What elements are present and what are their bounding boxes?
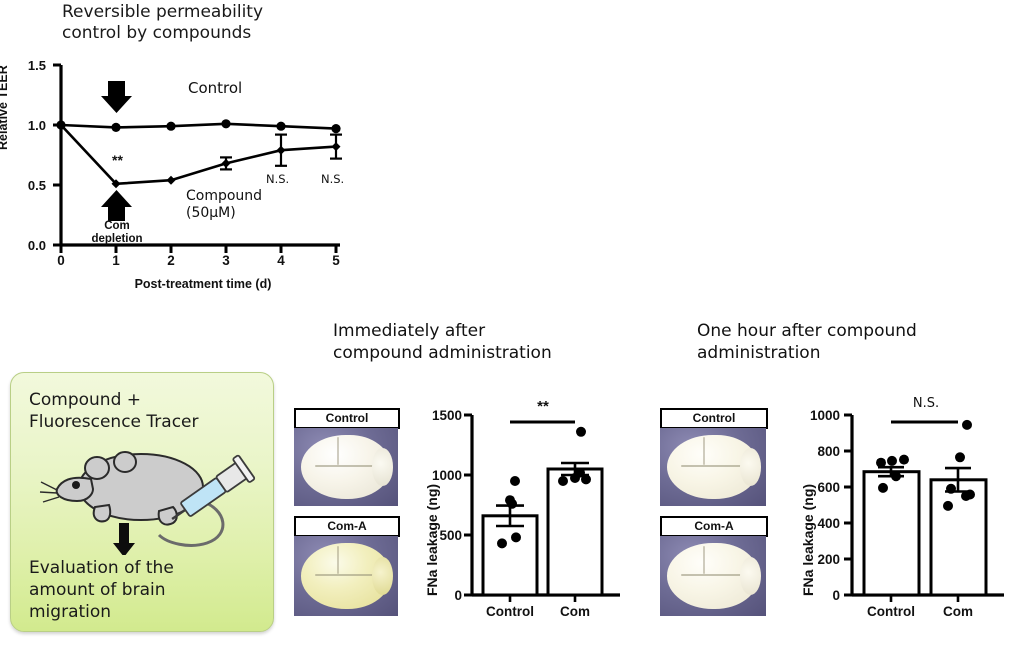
series-label-compound-line1: Compound xyxy=(186,188,262,205)
flow-input-line2: Fluorescence Tracer xyxy=(29,411,259,433)
group2-heading-line1: One hour after compound xyxy=(697,320,1017,342)
group1-brain-photo-com-a xyxy=(294,536,398,616)
flow-output-line3: migration xyxy=(29,601,261,623)
flow-output-text: Evaluation of the amount of brain migrat… xyxy=(29,557,261,623)
group1-heading: Immediately after compound administratio… xyxy=(333,320,633,364)
group2-photo-label-control: Control xyxy=(660,408,768,429)
down-arrow-icon xyxy=(101,81,132,113)
flow-input-text: Compound + Fluorescence Tracer xyxy=(29,389,259,433)
group1-heading-line1: Immediately after xyxy=(333,320,633,342)
group1-bar-chart: FNa leakage (ng) 1500 1000 500 0 xyxy=(410,400,630,640)
group1-brain-photo-control xyxy=(294,428,398,506)
group1-photo-label-control: Control xyxy=(294,408,400,429)
flow-output-line2: amount of brain xyxy=(29,579,261,601)
com-depletion-line2: depletion xyxy=(76,233,158,246)
group1-heading-line2: compound administration xyxy=(333,342,633,364)
com-depletion-line1: Com xyxy=(76,220,158,233)
com-depletion-label: Com depletion xyxy=(76,220,158,246)
group1-significance: ** xyxy=(518,398,568,415)
ns-day4: N.S. xyxy=(266,172,289,186)
up-arrow-icon xyxy=(101,190,132,221)
series-label-compound: Compound (50μM) xyxy=(186,188,262,222)
group1-x-tick-control: Control xyxy=(472,604,548,619)
ns-day5: N.S. xyxy=(321,172,344,186)
line-chart-svg xyxy=(0,55,360,305)
flow-arrow-icon xyxy=(113,523,135,555)
mouse-injection-icon xyxy=(31,435,261,555)
group2-brain-photo-com-a xyxy=(660,536,766,616)
group2-significance: N.S. xyxy=(898,396,954,411)
group2-x-tick-com: Com xyxy=(928,604,988,619)
group2-bar-chart: FNa leakage (ng) 1000 800 600 400 200 0 xyxy=(786,400,1021,640)
panel-title-line1: Reversible permeability xyxy=(62,2,342,23)
group2-heading: One hour after compound administration xyxy=(697,320,1017,364)
panel-title-line2: control by compounds xyxy=(62,23,342,44)
flow-input-line1: Compound + xyxy=(29,389,259,411)
group2-heading-line2: administration xyxy=(697,342,1017,364)
panel-teer-line-chart: Reversible permeability control by compo… xyxy=(0,0,360,310)
line-chart-area: Relative TEER Post-treatment time (d) 1.… xyxy=(0,55,360,305)
group1-photo-label-com-a: Com-A xyxy=(294,516,400,537)
series-label-control: Control xyxy=(188,79,242,97)
flow-output-line1: Evaluation of the xyxy=(29,557,261,579)
group2-photo-label-com-a: Com-A xyxy=(660,516,768,537)
significance-day1: ** xyxy=(112,152,123,168)
experiment-flow-box: Compound + Fluorescence Tracer xyxy=(10,372,274,632)
group2-brain-photo-control xyxy=(660,428,766,506)
group1-x-tick-com: Com xyxy=(545,604,605,619)
group2-x-tick-control: Control xyxy=(852,604,930,619)
series-label-compound-line2: (50μM) xyxy=(186,205,262,222)
panel-title: Reversible permeability control by compo… xyxy=(62,2,342,44)
